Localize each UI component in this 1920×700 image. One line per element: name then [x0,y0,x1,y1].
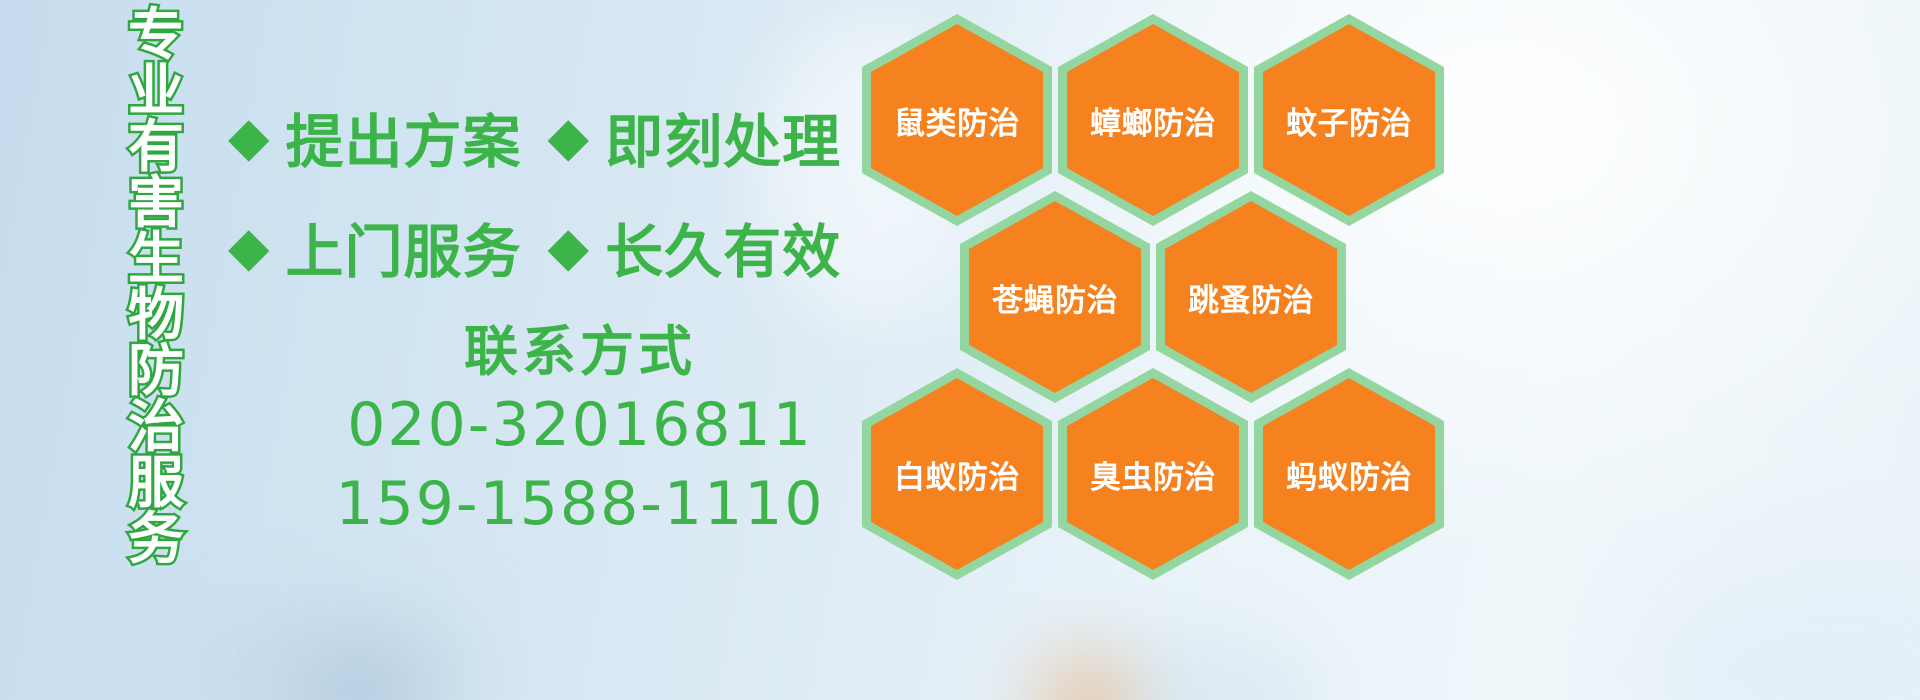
contact-block: 联系方式 020-32016811 159-1588-1110 [300,318,860,544]
feature-label: 提出方案 [286,95,522,179]
feature-label: 即刻处理 [605,95,841,179]
background-bokeh-1 [180,600,480,700]
vertical-slogan-char: 害 [128,176,184,232]
service-hex-label: 白蚁防治 [894,452,1020,497]
service-hex-label: 蟑螂防治 [1090,98,1216,143]
contact-phone-mobile[interactable]: 159-1588-1110 [300,465,860,544]
service-hex-inner: 蚊子防治 [1263,24,1435,216]
service-hex-inner: 跳蚤防治 [1165,201,1337,393]
vertical-slogan-char: 有 [128,120,184,176]
contact-title: 联系方式 [300,318,860,386]
vertical-slogan-char: 服 [128,456,184,512]
service-hex-inner: 苍蝇防治 [969,201,1141,393]
service-hex-ant[interactable]: 蚂蚁防治 [1254,368,1444,580]
service-hex-termite[interactable]: 白蚁防治 [862,368,1052,580]
contact-phone-landline[interactable]: 020-32016811 [300,386,860,465]
service-honeycomb: 鼠类防治 蟑螂防治 蚊子防治 苍蝇防治 跳蚤防治 白蚁防治 [862,6,1462,566]
diamond-bullet-icon: ◆ [228,110,270,164]
diamond-bullet-icon: ◆ [548,220,590,274]
vertical-slogan-char: 防 [128,344,184,400]
vertical-slogan-char: 业 [128,64,184,120]
service-hex-inner: 蚂蚁防治 [1263,378,1435,570]
service-hex-bedbug[interactable]: 臭虫防治 [1058,368,1248,580]
background-bokeh-3 [1060,640,1320,700]
vertical-slogan-char: 物 [128,288,184,344]
vertical-slogan-char: 务 [128,512,184,568]
promo-banner: 专 业 有 害 生 物 防 治 服 务 ◆ 提出方案 ◆ 即刻处理 ◆ 上门服务… [0,0,1920,700]
vertical-slogan-char: 治 [128,400,184,456]
background-bokeh-4 [1640,560,1920,700]
diamond-bullet-icon: ◆ [548,110,590,164]
service-hex-label: 蚊子防治 [1286,98,1412,143]
service-hex-label: 蚂蚁防治 [1286,452,1412,497]
service-hex-rodent[interactable]: 鼠类防治 [862,14,1052,226]
service-hex-flea[interactable]: 跳蚤防治 [1156,191,1346,403]
service-hex-label: 苍蝇防治 [992,275,1118,320]
vertical-slogan-char: 生 [128,232,184,288]
service-hex-inner: 鼠类防治 [871,24,1043,216]
feature-row: ◆ 上门服务 ◆ 长久有效 [228,192,868,302]
feature-label: 长久有效 [605,205,841,289]
service-hex-label: 跳蚤防治 [1188,275,1314,320]
service-hex-label: 臭虫防治 [1090,452,1216,497]
background-bokeh-orange [1040,662,1130,700]
service-hex-mosquito[interactable]: 蚊子防治 [1254,14,1444,226]
service-hex-inner: 白蚁防治 [871,378,1043,570]
vertical-slogan-char: 专 [128,8,184,64]
diamond-bullet-icon: ◆ [228,220,270,274]
service-hex-inner: 臭虫防治 [1067,378,1239,570]
feature-row: ◆ 提出方案 ◆ 即刻处理 [228,82,868,192]
service-hex-fly[interactable]: 苍蝇防治 [960,191,1150,403]
service-hex-inner: 蟑螂防治 [1067,24,1239,216]
vertical-slogan: 专 业 有 害 生 物 防 治 服 务 [104,8,208,568]
feature-list: ◆ 提出方案 ◆ 即刻处理 ◆ 上门服务 ◆ 长久有效 [228,82,868,302]
service-hex-cockroach[interactable]: 蟑螂防治 [1058,14,1248,226]
feature-label: 上门服务 [286,205,522,289]
service-hex-label: 鼠类防治 [894,98,1020,143]
background-bokeh-2 [300,648,420,700]
